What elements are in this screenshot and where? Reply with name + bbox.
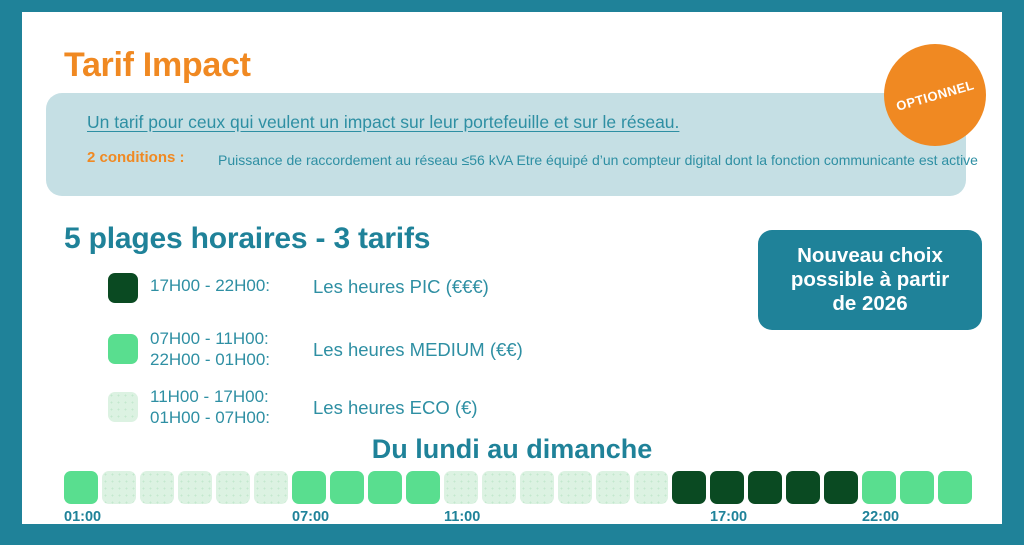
timeline-tick: 11:00	[444, 509, 480, 524]
swatch-medium-icon	[108, 334, 138, 364]
swatch-pic-icon	[108, 273, 138, 303]
timeline-hour-cell	[862, 471, 896, 504]
legend-description: Les heures PIC (€€€)	[313, 276, 489, 298]
timeline-hour-cell	[254, 471, 288, 504]
legend-hours: 11H00 - 17H00: 01H00 - 07H00:	[150, 386, 270, 428]
new-choice-badge: Nouveau choix possible à partir de 2026	[758, 230, 982, 330]
timeline-hour-cell	[140, 471, 174, 504]
timeline-strip	[64, 471, 972, 504]
timeline-tick: 01:00	[64, 509, 101, 524]
legend-row: 17H00 - 22H00: Les heures PIC (€€€)	[108, 270, 728, 328]
timeline-tick: 22:00	[862, 509, 899, 524]
tariff-card: OPTIONNEL Tarif Impact Un tarif pour ceu…	[22, 12, 1002, 524]
swatch-eco-icon	[108, 392, 138, 422]
section-title: 5 plages horaires - 3 tarifs	[64, 222, 430, 256]
timeline-hour-cell	[330, 471, 364, 504]
optional-badge-label: OPTIONNEL	[894, 77, 975, 114]
legend-hours: 07H00 - 11H00: 22H00 - 01H00:	[150, 328, 270, 370]
timeline-hour-cell	[710, 471, 744, 504]
conditions-label: 2 conditions :	[87, 149, 185, 166]
timeline-hour-cell	[292, 471, 326, 504]
page-title: Tarif Impact	[64, 46, 251, 85]
legend-hours: 17H00 - 22H00:	[150, 275, 270, 296]
legend-description: Les heures ECO (€)	[313, 397, 478, 419]
timeline-hour-cell	[634, 471, 668, 504]
legend-row: 07H00 - 11H00: 22H00 - 01H00: Les heures…	[108, 328, 728, 386]
timeline-hour-cell	[368, 471, 402, 504]
timeline-tick: 07:00	[292, 509, 329, 524]
timeline-hour-cell	[444, 471, 478, 504]
optional-badge: OPTIONNEL	[884, 44, 986, 146]
timeline-hour-cell	[596, 471, 630, 504]
timeline-hour-cell	[178, 471, 212, 504]
conditions-panel: Un tarif pour ceux qui veulent un impact…	[46, 93, 966, 196]
timeline-hour-cell	[672, 471, 706, 504]
timeline-hour-cell	[216, 471, 250, 504]
conditions-list: Puissance de raccordement au réseau ≤56 …	[218, 150, 978, 170]
timeline-title: Du lundi au dimanche	[22, 434, 1002, 465]
new-choice-badge-label: Nouveau choix possible à partir de 2026	[791, 244, 949, 316]
tariff-legend: 17H00 - 22H00: Les heures PIC (€€€) 07H0…	[108, 270, 728, 444]
timeline-hour-cell	[938, 471, 972, 504]
timeline-hour-cell	[482, 471, 516, 504]
timeline-hour-cell	[102, 471, 136, 504]
outer-frame: OPTIONNEL Tarif Impact Un tarif pour ceu…	[0, 0, 1024, 545]
timeline-hour-cell	[786, 471, 820, 504]
timeline-tick-labels: 01:0007:0011:0017:0022:00	[64, 509, 984, 524]
conditions-lead-text: Un tarif pour ceux qui veulent un impact…	[87, 112, 679, 133]
timeline-hour-cell	[558, 471, 592, 504]
timeline-hour-cell	[900, 471, 934, 504]
timeline-tick: 17:00	[710, 509, 747, 524]
timeline-hour-cell	[748, 471, 782, 504]
timeline-hour-cell	[824, 471, 858, 504]
legend-description: Les heures MEDIUM (€€)	[313, 339, 523, 361]
timeline-hour-cell	[64, 471, 98, 504]
timeline-hour-cell	[406, 471, 440, 504]
timeline-hour-cell	[520, 471, 554, 504]
